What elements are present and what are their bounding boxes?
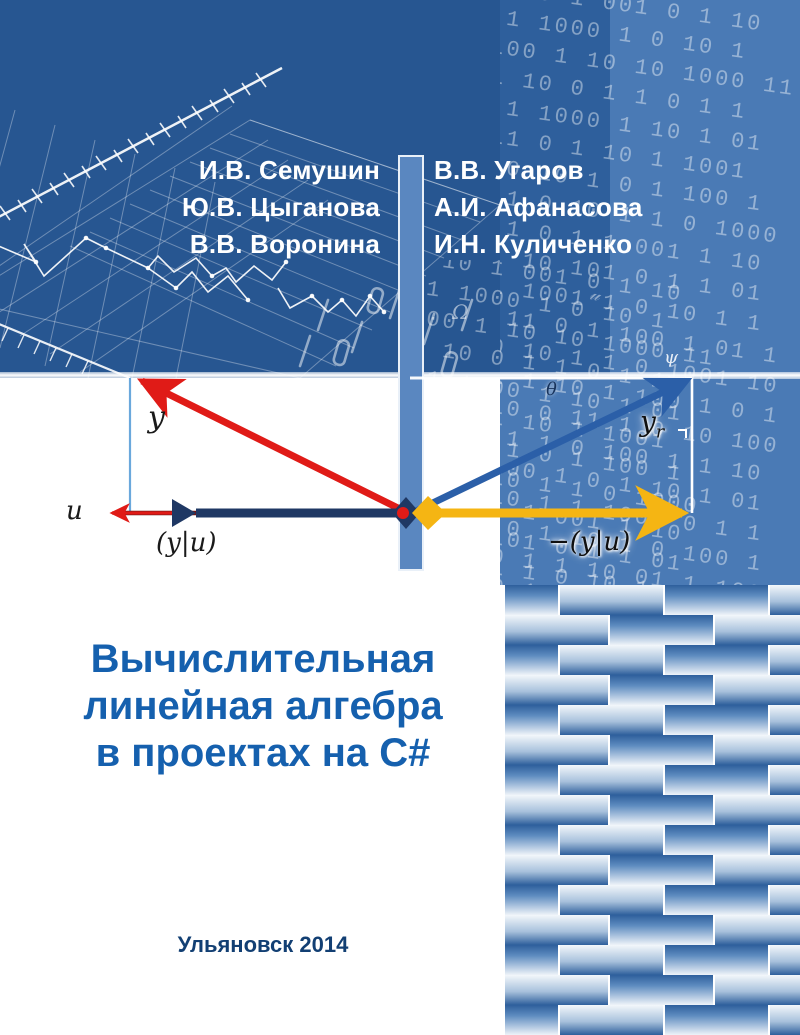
checkerboard-cell	[715, 615, 800, 645]
checkerboard-cell	[770, 705, 800, 735]
checkerboard-cell	[715, 735, 800, 765]
label-projection: (y|u)	[156, 528, 216, 558]
checkerboard-row	[505, 705, 800, 735]
checkerboard-cell	[715, 795, 800, 825]
checkerboard-cell	[505, 705, 558, 735]
author-name: И.Н. Куличенко	[434, 226, 692, 263]
authors-left-column: И.В. Семушин Ю.В. Цыганова В.В. Воронина	[148, 152, 380, 272]
checkerboard-cell	[665, 885, 768, 915]
label-vector-u: u	[66, 496, 83, 526]
checkerboard-cell	[560, 765, 663, 795]
checkerboard-cell	[770, 585, 800, 615]
checkerboard-cell	[665, 585, 768, 615]
checkerboard-cell	[665, 765, 768, 795]
checkerboard-pattern	[505, 585, 800, 1035]
label-yr-subscript: r	[656, 423, 664, 443]
checkerboard-cell	[505, 855, 608, 885]
checkerboard-cell	[610, 735, 713, 765]
checkerboard-cell	[560, 585, 663, 615]
label-minus-projection: −(y|u)	[548, 527, 630, 557]
checkerboard-row	[505, 585, 800, 615]
checkerboard-cell	[665, 645, 768, 675]
label-vector-yr: yr	[640, 405, 664, 443]
checkerboard-cell	[610, 675, 713, 705]
checkerboard-row	[505, 885, 800, 915]
checkerboard-row	[505, 675, 800, 705]
checkerboard-cell	[505, 915, 608, 945]
title-line-2: линейная алгебра	[28, 683, 498, 730]
checkerboard-row	[505, 1005, 800, 1035]
checkerboard-cell	[610, 915, 713, 945]
imprint-line: Ульяновск 2014	[28, 932, 498, 958]
label-theta: θ	[546, 379, 557, 400]
checkerboard-cell	[665, 825, 768, 855]
label-omega: Ω	[452, 300, 469, 324]
checkerboard-cell	[505, 975, 608, 1005]
checkerboard-cell	[715, 915, 800, 945]
checkerboard-row	[505, 765, 800, 795]
checkerboard-row	[505, 975, 800, 1005]
checkerboard-cell	[715, 855, 800, 885]
checkerboard-cell	[665, 945, 768, 975]
checkerboard-cell	[505, 735, 608, 765]
title-line-1: Вычислительная	[28, 636, 498, 683]
checkerboard-cell	[505, 615, 608, 645]
checkerboard-cell	[770, 825, 800, 855]
author-name: И.В. Семушин	[148, 152, 380, 189]
checkerboard-cell	[560, 645, 663, 675]
checkerboard-row	[505, 915, 800, 945]
checkerboard-cell	[505, 585, 558, 615]
checkerboard-cell	[770, 645, 800, 675]
checkerboard-cell	[560, 1005, 663, 1035]
checkerboard-row	[505, 945, 800, 975]
checkerboard-row	[505, 855, 800, 885]
checkerboard-cell	[610, 795, 713, 825]
authors-block: И.В. Семушин Ю.В. Цыганова В.В. Воронина…	[0, 152, 800, 272]
checkerboard-cell	[610, 615, 713, 645]
checkerboard-cell	[560, 885, 663, 915]
checkerboard-cell	[560, 945, 663, 975]
book-cover: 1 0 10 1 001 0 1 1001 1 1000 1 0 10 11 1…	[0, 0, 800, 1035]
checkerboard-cell	[505, 1005, 558, 1035]
checkerboard-cell	[770, 945, 800, 975]
checkerboard-cell	[610, 855, 713, 885]
checkerboard-cell	[560, 705, 663, 735]
checkerboard-cell	[505, 945, 558, 975]
author-name: Ю.В. Цыганова	[148, 189, 380, 226]
checkerboard-cell	[505, 885, 558, 915]
checkerboard-cell	[505, 645, 558, 675]
title-line-3: в проектах на C#	[28, 730, 498, 777]
author-name: В.В. Угаров	[434, 152, 692, 189]
book-title: Вычислительная линейная алгебра в проект…	[28, 636, 498, 777]
binary-code-texture: 1 0 10 1 001 0 1 1001 1 1000 1 0 10 11 1…	[500, 0, 800, 585]
checkerboard-cell	[560, 825, 663, 855]
label-yr-base: y	[640, 405, 656, 438]
label-vector-y: y	[148, 400, 165, 435]
checkerboard-cell	[770, 885, 800, 915]
checkerboard-cell	[505, 675, 608, 705]
checkerboard-cell	[665, 705, 768, 735]
checkerboard-cell	[770, 765, 800, 795]
checkerboard-cell	[770, 1005, 800, 1035]
checkerboard-cell	[715, 975, 800, 1005]
checkerboard-row	[505, 795, 800, 825]
authors-right-column: В.В. Угаров А.И. Афанасова И.Н. Куличенк…	[434, 152, 692, 272]
checkerboard-row	[505, 615, 800, 645]
checkerboard-cell	[715, 675, 800, 705]
checkerboard-row	[505, 825, 800, 855]
author-name: В.В. Воронина	[148, 226, 380, 263]
checkerboard-row	[505, 645, 800, 675]
checkerboard-row	[505, 735, 800, 765]
label-psi: ψ	[664, 347, 678, 368]
checkerboard-cell	[505, 765, 558, 795]
checkerboard-cell	[665, 1005, 768, 1035]
author-name: А.И. Афанасова	[434, 189, 692, 226]
checkerboard-cell	[505, 825, 558, 855]
checkerboard-cell	[505, 795, 608, 825]
checkerboard-cell	[610, 975, 713, 1005]
